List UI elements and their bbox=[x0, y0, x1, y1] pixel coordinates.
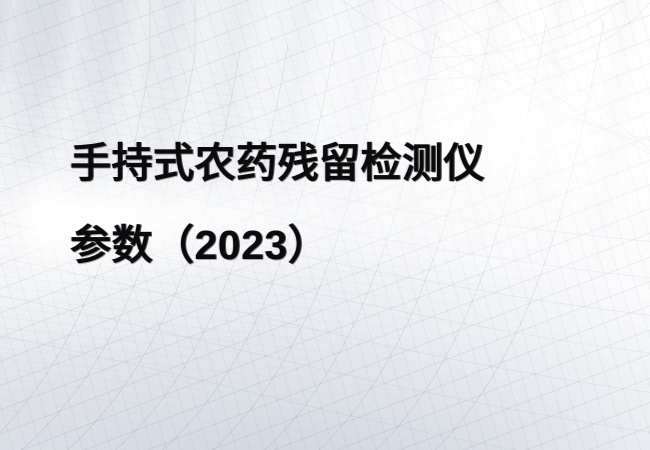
title-line-2: 参数（2023） bbox=[70, 204, 630, 286]
banner-image: 手持式农药残留检测仪 参数（2023） bbox=[0, 0, 650, 450]
banner-title: 手持式农药残留检测仪 参数（2023） bbox=[70, 122, 630, 286]
title-line-1: 手持式农药残留检测仪 bbox=[70, 122, 630, 204]
